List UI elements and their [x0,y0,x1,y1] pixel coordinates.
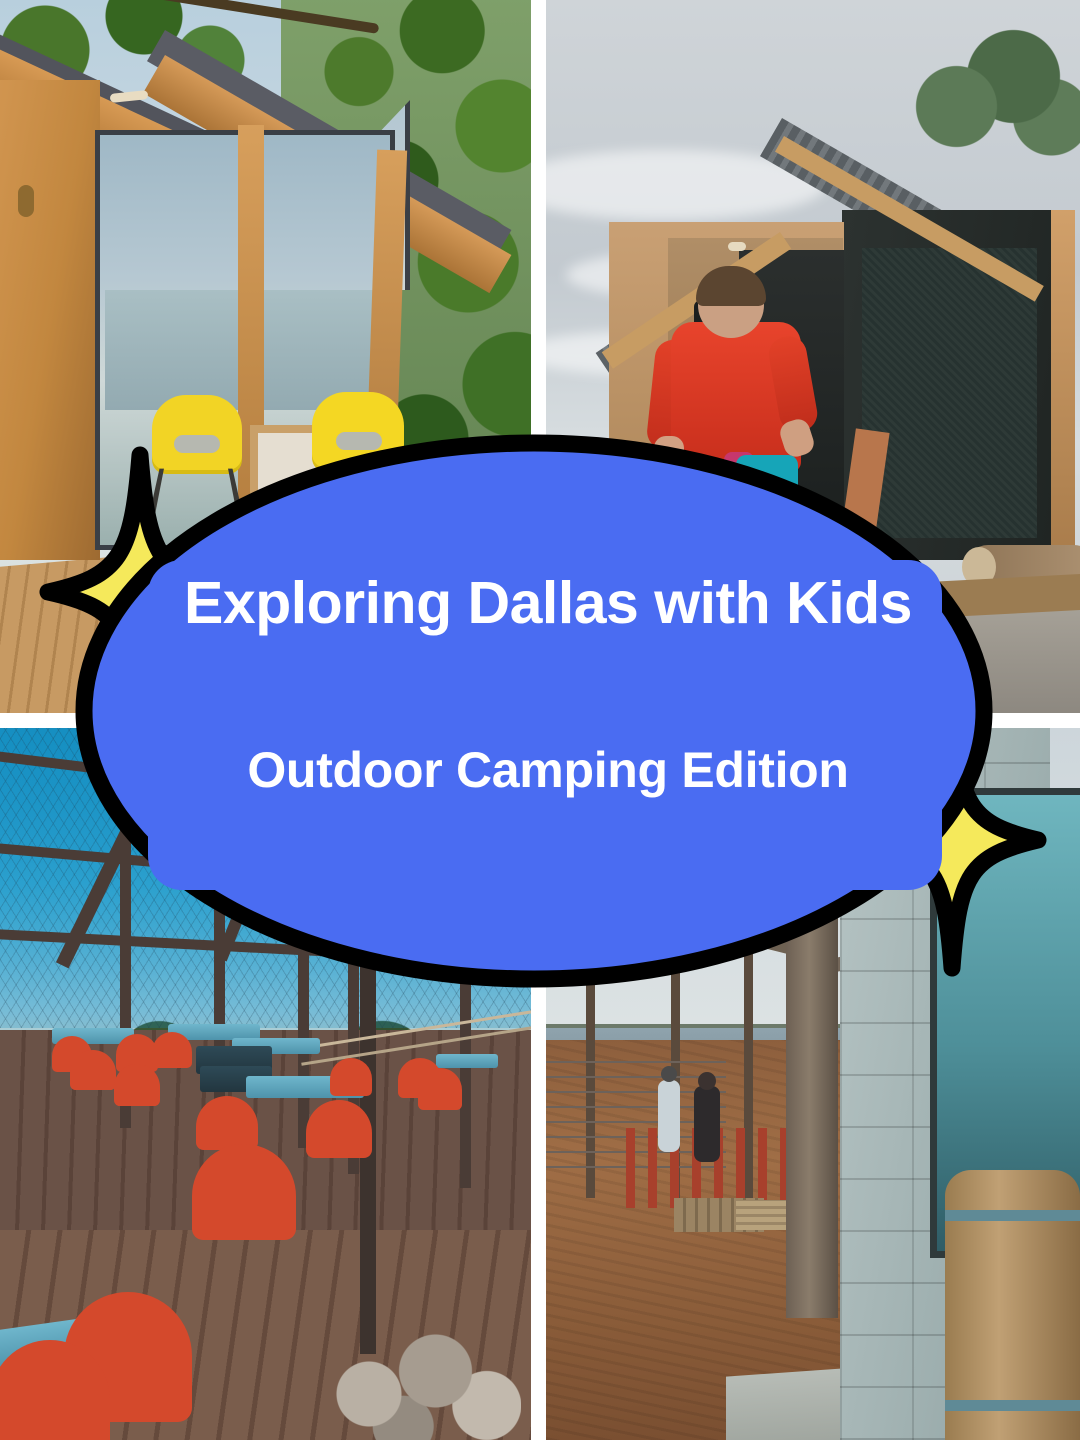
title-overlay: Exploring Dallas with Kids Outdoor Campi… [0,0,1080,1440]
poster-canvas: Exploring Dallas with Kids Outdoor Campi… [0,0,1080,1440]
bubble-graphics [0,0,1080,1440]
text-backing-block [148,560,942,890]
